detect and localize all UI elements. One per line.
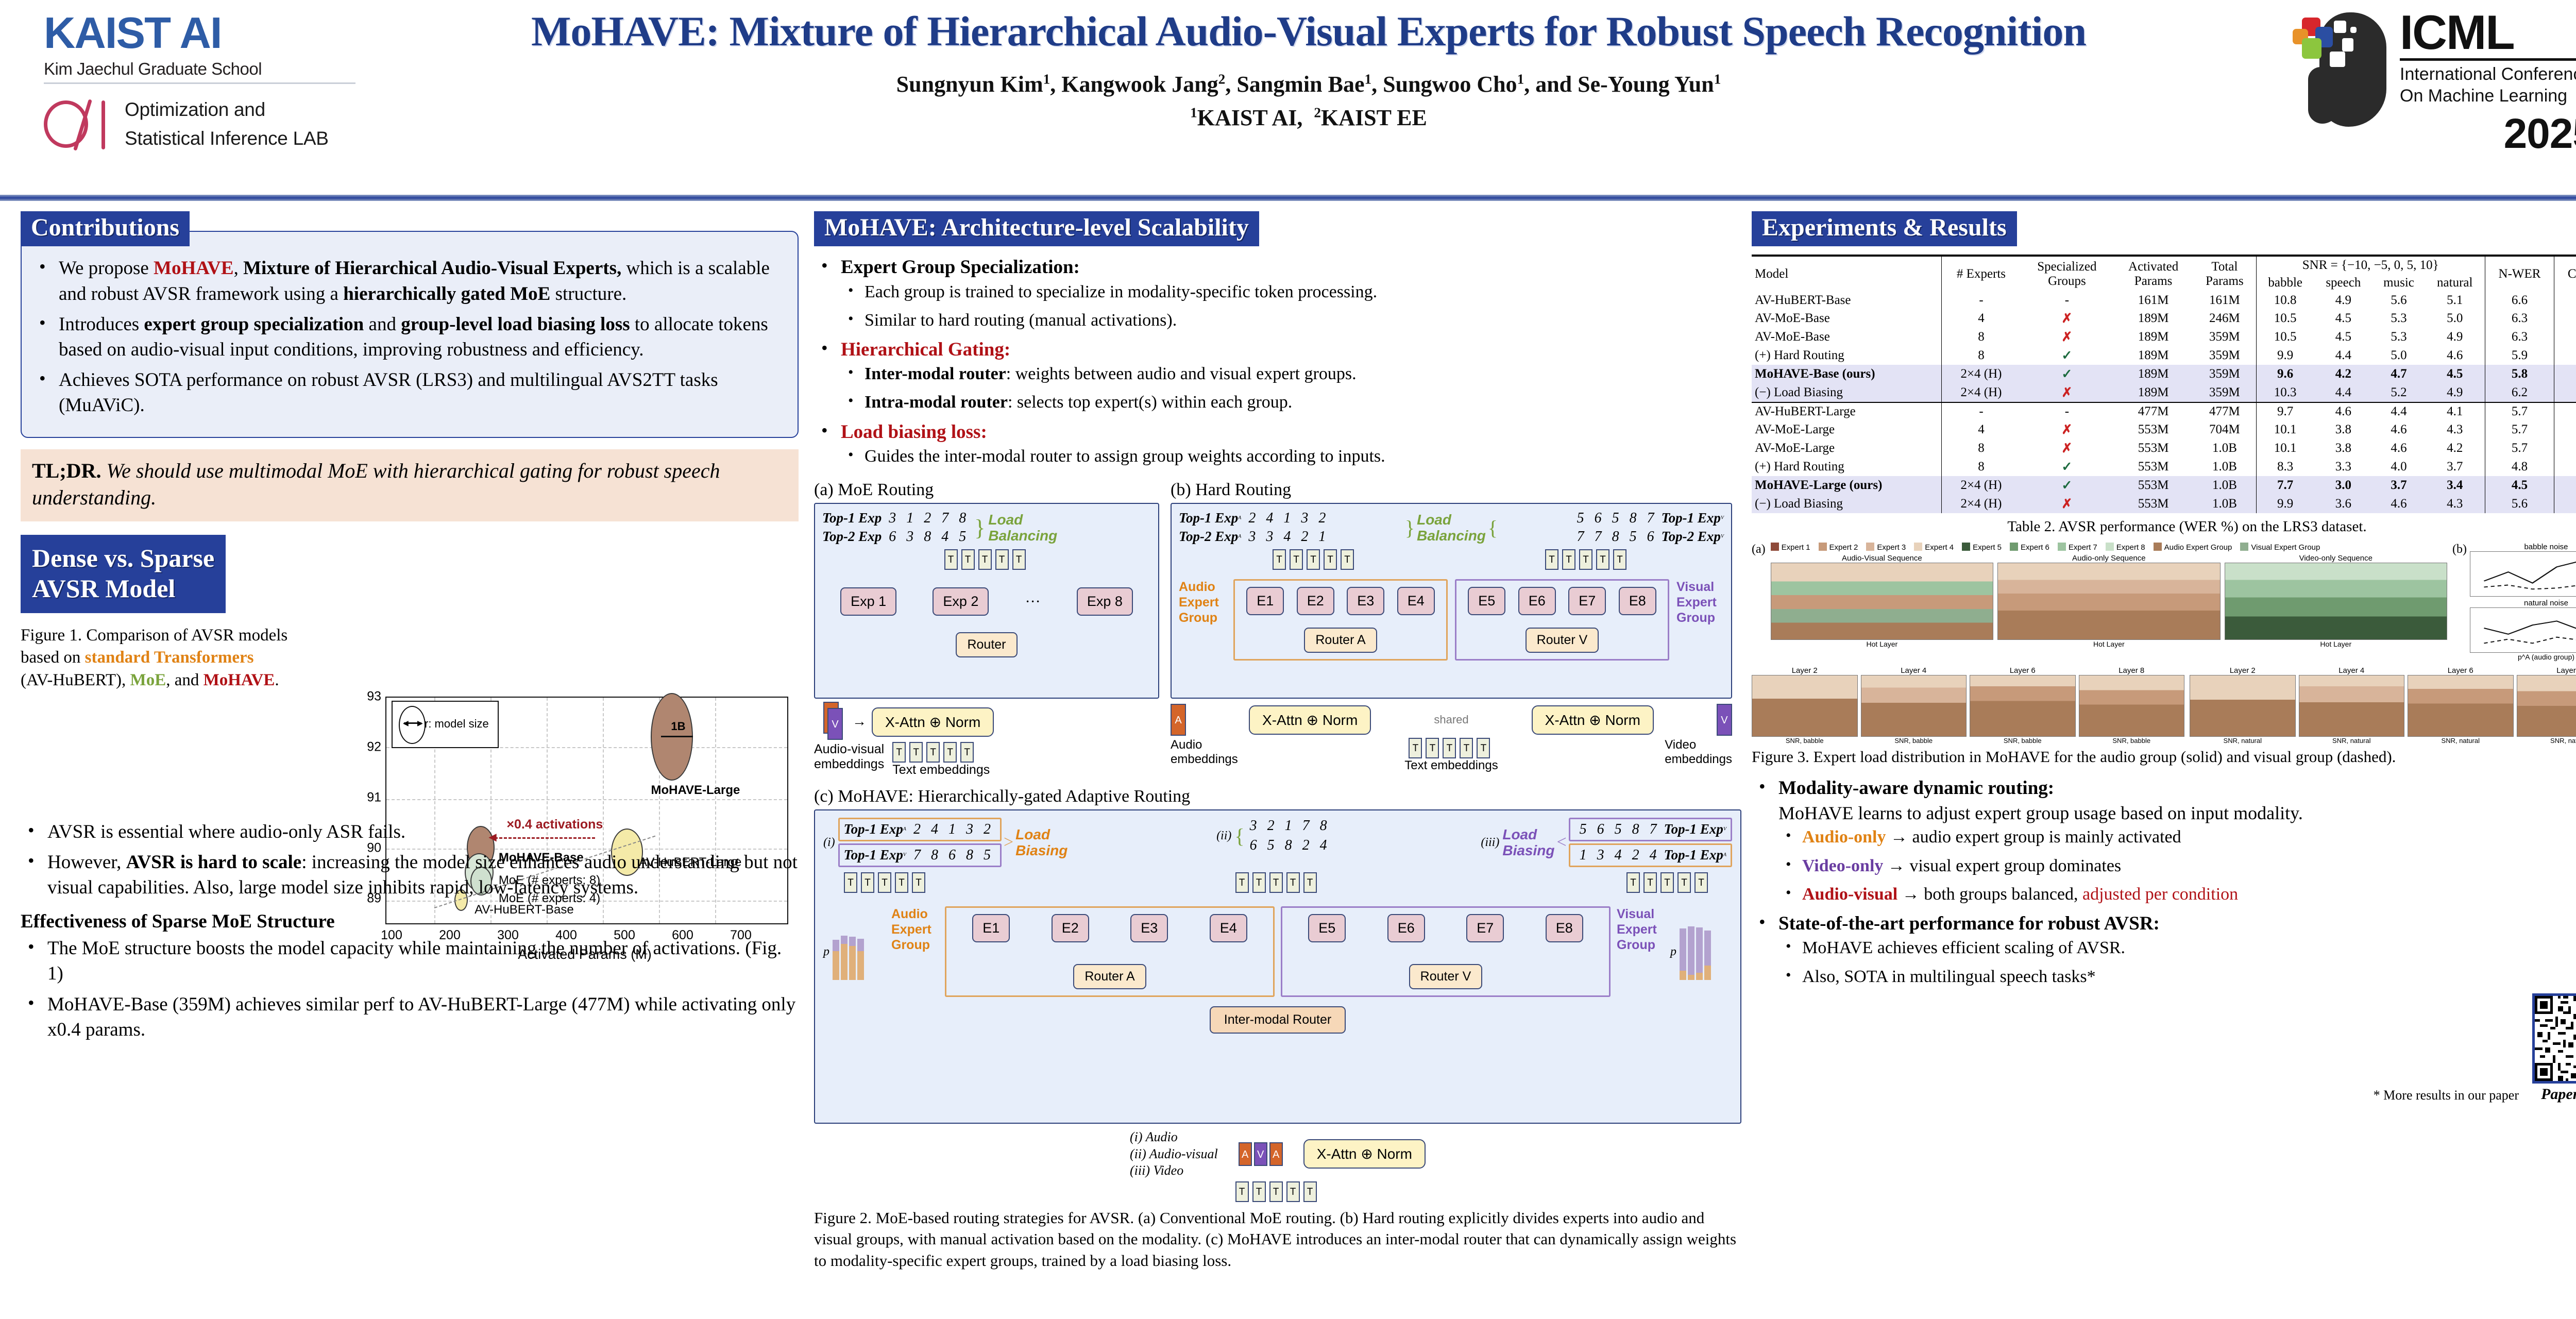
cell-total: 359M [2193,328,2256,346]
list-item: Also, SOTA in multilingual speech tasks* [1778,965,2576,988]
fig3-layer-title-b0: Layer 2 [1752,666,1858,675]
fig3-top-title-2: Video-only Sequence [2225,554,2447,563]
cell-natural: 4.6 [2425,346,2485,365]
routing-value: 3 [1245,818,1262,834]
routing-value: 5 [1262,837,1280,854]
cell-music: 4.4 [2372,402,2425,420]
a-router: Router [956,632,1017,657]
cell-cwer: 1.5 [2554,476,2576,495]
routing-value: 2 [1627,847,1645,864]
routing-value: 3 [1296,510,1313,527]
list-item: Audio-only → audio expert group is mainl… [1778,825,2576,849]
exp-bullet-1-subs: MoHAVE achieves efficient scaling of AVS… [1778,936,2576,988]
cell-nwer: 6.3 [2485,309,2554,328]
b-e7: E7 [1568,587,1606,615]
cell-experts: 8 [1942,458,2021,476]
cell-cwer: 2.1 [2554,292,2576,309]
cell-model: AV-HuBERT-Large [1752,402,1942,420]
arch-group-1-subs: Inter-modal router: weights between audi… [841,362,1741,414]
cell-experts: 4 [1942,420,2021,439]
c-p-right: p [1670,945,1676,959]
cell-music: 4.6 [2372,420,2425,439]
fig3-top-chart-1 [1997,563,2220,640]
list-item: MoHAVE achieves efficient scaling of AVS… [1778,936,2576,959]
legend-expert-1: Expert 1 [1782,543,1810,552]
b-video-emb-l2: embeddings [1665,752,1732,767]
architecture-group-list: Expert Group Specialization: Each group … [814,255,1741,468]
fig3-layers-babble: Layer 2 SNR, babble Layer 4 SNR, babble … [1752,666,2184,745]
a-emb-caption-l1: Audio-visual [814,742,884,757]
cell-experts: 2×4 (H) [1942,365,2021,383]
paper-qr-code[interactable] [2532,993,2576,1084]
cell-natural: 4.5 [2425,365,2485,383]
cell-natural: 4.9 [2425,383,2485,402]
table-row: AV-MoE-Large 4 ✗ 553M 704M 10.1 3.8 4.6 … [1752,420,2576,439]
osi-lab-logo: Optimization and Statistical Inference L… [44,95,329,153]
cell-activated: 553M [2113,458,2193,476]
cell-model: (+) Hard Routing [1752,346,1942,365]
annotation-1b: 1B [671,720,685,733]
cell-speech: 4.4 [2314,346,2373,365]
fig3-top-xlabel-0: Hot Layer [1771,640,1993,648]
routing-value: 2 [1262,818,1280,834]
c-visual-group-label: Visual Expert Group [1617,906,1664,997]
fig3-top-xlabel-1: Hot Layer [1997,640,2220,648]
c-legend-iii: (iii) Video [1130,1163,1183,1178]
b-emb-video: V [1717,704,1732,736]
architecture-heading: MoHAVE: Architecture-level Scalability [814,211,1259,246]
routing-value: 7 [1297,818,1315,834]
b-audio-expert-group: E1 E2 E3 E4 Router A [1233,579,1448,661]
icml-logo: ICML International Conference On Machine… [2293,6,2576,176]
b-e1: E1 [1246,587,1284,615]
cell-babble: 9.6 [2256,365,2314,383]
routing-value: 8 [919,529,936,545]
th-spec: SpecializedGroups [2021,256,2114,292]
cell-cwer: 2.0 [2554,346,2576,365]
experiments-bullets: Modality-aware dynamic routing: MoHAVE l… [1752,775,2576,988]
c-xattn-block: X-Attn ⊕ Norm [1303,1139,1426,1169]
b-e3: E3 [1347,587,1384,615]
fig2-panel-c-diagram: (i) Top-1 ExpA 24132 Top-1 ExpV 78685 [814,809,1741,1124]
c-emb-v1: V [1254,1142,1267,1166]
b-top1a-label: Top-1 Exp [1179,510,1238,526]
b-top2v-values: 77856 [1572,534,1659,543]
cell-specialized: ✓ [2021,346,2114,365]
kaist-logo: KAIST AI Kim Jaechul Graduate School [44,11,353,79]
routing-value: 4 [1261,510,1278,527]
column-left: Contributions We propose MoHAVE, Mixture… [21,211,799,1047]
cell-cwer: 1.8 [2554,365,2576,383]
cell-specialized: ✗ [2021,420,2114,439]
a-expert-2: Exp 2 [933,587,989,616]
routing-value: 5 [1572,510,1589,527]
fig3-top-title-1: Audio-only Sequence [1997,554,2220,563]
cell-specialized: ✗ [2021,309,2114,328]
cell-model: (+) Hard Routing [1752,458,1942,476]
c-i-row2-label: Top-1 Exp [844,847,903,863]
cell-nwer: 4.8 [2485,458,2554,476]
table-row: AV-MoE-Large 8 ✗ 553M 1.0B 10.1 3.8 4.6 … [1752,439,2576,458]
fig3-right-title-0: babble noise [2470,543,2576,551]
routing-value: 1 [1574,847,1592,864]
c-emb-a1: A [1239,1142,1252,1166]
c-legend-ii: (ii) Audio-visual [1130,1146,1218,1161]
routing-value: 4 [936,529,954,545]
cell-total: 359M [2193,365,2256,383]
cell-total: 359M [2193,383,2256,402]
cell-activated: 161M [2113,292,2193,309]
cell-specialized: ✓ [2021,476,2114,495]
routing-value: 7 [1645,821,1662,838]
cell-babble: 9.9 [2256,495,2314,513]
routing-value: 7 [908,847,926,864]
c-iii-row1-values: 56587 [1574,827,1662,836]
th-babble: babble [2256,274,2314,292]
figure2-caption: Figure 2. MoE-based routing strategies f… [814,1207,1741,1272]
bubble-label-avhubert-base: AV-HuBERT-Base [474,903,574,917]
cell-nwer: 5.8 [2485,365,2554,383]
legend-expert-8: Expert 8 [2116,543,2145,552]
ytick-93: 93 [357,689,381,704]
kaist-wordmark: KAIST AI [44,11,353,55]
routing-value: 1 [1313,529,1331,545]
cell-activated: 553M [2113,476,2193,495]
cell-cwer: 1.8 [2554,439,2576,458]
title-block: MoHAVE: Mixture of Hierarchical Audio-Vi… [361,9,2257,131]
cell-total: 704M [2193,420,2256,439]
cell-experts: 8 [1942,328,2021,346]
fig3-layer-title-b2: Layer 6 [1970,666,2076,675]
arch-group-0-title: Expert Group Specialization: [841,257,1080,278]
cross-icon: ✗ [2061,423,2072,437]
c-iii-sup1: V [1723,826,1726,832]
sparse-moe-bullets: The MoE structure boosts the model capac… [21,936,799,1042]
list-item: Each group is trained to specialize in m… [841,280,1741,303]
fig3-right-xlabel: p^A (audio group) [2470,653,2576,661]
tldr-box: TL;DR. We should use multimodal MoE with… [21,449,799,521]
b-router-a: Router A [1304,628,1377,653]
cell-nwer: 5.6 [2485,495,2554,513]
routing-value: 2 [1243,510,1261,527]
cell-total: 246M [2193,309,2256,328]
legend-expert-6: Expert 6 [2021,543,2049,552]
cell-babble: 9.7 [2256,402,2314,420]
cell-model: (−) Load Biasing [1752,383,1942,402]
b-top1a-values: 24132 [1243,516,1331,525]
c-i-row1-values: 24132 [908,827,996,836]
b-top2a-label: Top-2 Exp [1179,529,1238,544]
b-top1v-values: 56587 [1572,516,1659,525]
figure3: (a) Expert 1 Expert 2 Expert 3 Expert 4 … [1752,543,2576,766]
c-iii-row2-values: 13424 [1574,853,1662,861]
cell-babble: 10.5 [2256,328,2314,346]
b-visual-group-label: Visual Expert Group [1676,579,1724,661]
cell-specialized: ✗ [2021,439,2114,458]
routing-value: 8 [926,847,943,864]
page-title: MoHAVE: Mixture of Hierarchical Audio-Vi… [361,9,2257,54]
osi-lab-name: Optimization and Statistical Inference L… [125,95,329,153]
c-e3: E3 [1130,914,1168,942]
cross-icon: ✗ [2061,497,2072,511]
cell-cwer: 2.0 [2554,309,2576,328]
c-inter-modal-router: Inter-modal Router [1210,1006,1346,1034]
cross-icon: ✗ [2061,330,2072,344]
c-i-row2-values: 78685 [908,853,996,861]
table-row: AV-HuBERT-Large - - 477M 477M 9.7 4.6 4.… [1752,402,2576,420]
cell-model: AV-MoE-Base [1752,309,1942,328]
cell-specialized: ✗ [2021,328,2114,346]
routing-value: 5 [1574,821,1592,838]
cell-music: 5.3 [2372,309,2425,328]
cell-speech: 3.6 [2314,495,2373,513]
cell-specialized: - [2021,402,2114,420]
routing-value: 6 [1592,821,1609,838]
c-iii-sup2: A [1723,852,1726,858]
routing-value: 1 [901,510,919,527]
arch-group-0: Expert Group Specialization: Each group … [814,255,1741,332]
legend-expert-7: Expert 7 [2069,543,2097,552]
cell-activated: 477M [2113,402,2193,420]
cell-specialized: ✗ [2021,495,2114,513]
results-table: Model # Experts SpecializedGroups Activa… [1752,255,2576,513]
fig3-layer-x-n0: SNR, natural [2190,737,2296,745]
cell-music: 5.2 [2372,383,2425,402]
legend-expert-5: Expert 5 [1973,543,2002,552]
arch-group-1-title: Hierarchical Gating: [841,339,1010,360]
cell-experts: - [1942,402,2021,420]
c-load-iii-l1: Load [1502,826,1537,842]
th-experts: # Experts [1942,256,2021,292]
figure1-size-legend: ◀ ▶ r: model size [392,701,499,748]
routing-value: 8 [954,510,971,527]
arch-group-1: Hierarchical Gating: Inter-modal router:… [814,337,1741,414]
cell-model: AV-MoE-Large [1752,420,1942,439]
c-e8: E8 [1546,914,1583,942]
osi-mark-icon [44,98,113,150]
dense-heading-line1: Dense vs. Sparse [32,543,214,573]
cell-model: MoHAVE-Large (ours) [1752,476,1942,495]
table-row: AV-MoE-Base 8 ✗ 189M 359M 10.5 4.5 5.3 4… [1752,328,2576,346]
experiments-heading: Experiments & Results [1752,211,2017,246]
dense-heading-line2: AVSR Model [32,573,214,604]
a-emb-video: V [827,708,843,740]
legend-expert-4: Expert 4 [1925,543,1954,552]
c-load-i-l2: Biasing [1015,842,1067,858]
figure1-legend-text: r: model size [425,717,489,731]
list-item: AVSR is essential where audio-only ASR f… [21,819,799,844]
cell-nwer: 6.6 [2485,292,2554,309]
cell-music: 4.6 [2372,495,2425,513]
cell-babble: 9.9 [2256,346,2314,365]
list-item: Achieves SOTA performance on robust AVSR… [32,367,784,418]
b-top1v-label: Top-1 Exp [1662,510,1721,526]
fig3-layer-title-n0: Layer 2 [2190,666,2296,675]
fig2-panel-a-title: (a) MoE Routing [814,480,1159,500]
cell-activated: 189M [2113,328,2193,346]
routing-value: 1 [1278,510,1296,527]
legend-expert-2: Expert 2 [1829,543,1858,552]
cell-babble: 8.3 [2256,458,2314,476]
b-e6: E6 [1518,587,1556,615]
cell-speech: 4.2 [2314,365,2373,383]
b-audio-emb-l2: embeddings [1171,752,1238,767]
header-divider [44,82,355,84]
kaist-subtitle: Kim Jaechul Graduate School [44,59,353,79]
cell-activated: 189M [2113,383,2193,402]
contributions-list: We propose MoHAVE, Mixture of Hierarchic… [32,256,784,418]
c-tag-i: (i) [823,836,835,850]
a-expert-8: Exp 8 [1077,587,1133,616]
list-item: Similar to hard routing (manual activati… [841,309,1741,332]
list-item: Guides the inter-modal router to assign … [841,445,1741,468]
cell-specialized: ✓ [2021,365,2114,383]
figure1-caption: Figure 1. Comparison of AVSR models base… [21,624,289,692]
tldr-label: TL;DR. [32,459,101,482]
cell-natural: 4.2 [2425,439,2485,458]
c-emb-a2: A [1269,1142,1283,1166]
cell-activated: 553M [2113,495,2193,513]
cell-music: 4.7 [2372,365,2425,383]
c-router-v: Router V [1409,964,1483,989]
column-right: Experiments & Results Model # Experts Sp… [1752,211,2576,1103]
a-load-l1: Load [988,512,1023,528]
cell-speech: 4.5 [2314,309,2373,328]
cell-nwer: 6.3 [2485,328,2554,346]
b-router-v: Router V [1526,628,1599,653]
cell-nwer: 4.5 [2485,476,2554,495]
tldr-text: We should use multimodal MoE with hierar… [32,459,720,509]
cell-speech: 4.4 [2314,383,2373,402]
arch-group-2-title: Load biasing loss: [841,421,987,443]
cell-natural: 4.3 [2425,495,2485,513]
b-e5: E5 [1468,587,1505,615]
c-audio-group-label: Audio Expert Group [891,906,939,997]
routing-value: 7 [936,510,954,527]
fig3-top-chart-0 [1771,563,1993,640]
legend-visual-group: Visual Expert Group [2251,543,2320,552]
exp-bullet-0-title: Modality-aware dynamic routing: [1778,777,2054,799]
cell-specialized: ✓ [2021,458,2114,476]
qr-code-icon [2535,996,2576,1081]
a-text-emb-caption: Text embeddings [892,763,990,777]
cell-specialized: ✗ [2021,383,2114,402]
cell-music: 3.7 [2372,476,2425,495]
cell-total: 161M [2193,292,2256,309]
fig3-tag-b: (b) [2452,543,2467,556]
c-p-left: p [823,945,829,959]
fig3-layer-title-b1: Layer 4 [1861,666,1967,675]
table-row: (+) Hard Routing 8 ✓ 553M 1.0B 8.3 3.3 4… [1752,458,2576,476]
cell-speech: 4.5 [2314,328,2373,346]
c-legend-i: (i) Audio [1130,1129,1178,1144]
cell-activated: 553M [2113,420,2193,439]
cell-total: 1.0B [2193,495,2256,513]
cell-experts: 8 [1942,439,2021,458]
b-e2: E2 [1297,587,1334,615]
cross-icon: ✗ [2061,312,2072,326]
routing-value: 6 [1245,837,1262,854]
routing-value: 8 [1315,818,1332,834]
fig3-layer-title-n1: Layer 4 [2299,666,2405,675]
fig3-legend: Expert 1 Expert 2 Expert 3 Expert 4 Expe… [1771,543,2447,552]
b-sup-a2: A [1238,534,1241,539]
routing-value: 3 [1592,847,1609,864]
cell-babble: 10.5 [2256,309,2314,328]
header-accent-bar [0,195,2576,201]
list-item: However, AVSR is hard to scale: increasi… [21,850,799,900]
c-e1: E1 [972,914,1010,942]
check-icon: ✓ [2061,367,2072,381]
a-expert-1: Exp 1 [840,587,896,616]
check-icon: ✓ [2061,460,2072,474]
contributions-panel: We propose MoHAVE, Mixture of Hierarchic… [21,231,799,437]
ytick-92: 92 [357,739,381,754]
fig3-right-chart-1 [2470,607,2576,653]
cell-cwer: 1.5 [2554,458,2576,476]
table-row: MoHAVE-Base (ours) 2×4 (H) ✓ 189M 359M 9… [1752,365,2576,383]
a-xattn-block: X-Attn ⊕ Norm [872,707,994,737]
b-e4: E4 [1397,587,1435,615]
list-item: Introduces expert group specialization a… [32,312,784,362]
cell-speech: 4.9 [2314,292,2373,309]
cell-music: 4.0 [2372,458,2425,476]
th-speech: speech [2314,274,2373,292]
results-table-head: Model # Experts SpecializedGroups Activa… [1752,256,2576,292]
author-list: Sungnyun Kim1, Kangwook Jang2, Sangmin B… [361,71,2257,97]
b-e8: E8 [1619,587,1656,615]
column-middle: MoHAVE: Architecture-level Scalability E… [814,211,1741,1271]
c-e4: E4 [1210,914,1247,942]
b-xattn-left: X-Attn ⊕ Norm [1249,705,1371,735]
table-row: AV-HuBERT-Base - - 161M 161M 10.8 4.9 5.… [1752,292,2576,309]
table-row: AV-MoE-Base 4 ✗ 189M 246M 10.5 4.5 5.3 5… [1752,309,2576,328]
routing-value: 3 [1243,529,1261,545]
cell-natural: 4.9 [2425,328,2485,346]
icml-subtitle-2: On Machine Learning [2400,86,2576,107]
routing-value: 5 [1624,529,1642,545]
cell-specialized: - [2021,292,2114,309]
routing-value: 6 [1642,529,1659,545]
exp-bullet-1: State-of-the-art performance for robust … [1752,911,2576,988]
b-load-l2: Balancing [1417,528,1486,544]
c-right-minibars [1680,923,1711,980]
b-sup-v1: V [1721,515,1724,521]
poster-header: KAIST AI Kim Jaechul Graduate School Opt… [0,0,2576,201]
list-item: MoHAVE-Base (359M) achieves similar perf… [21,992,799,1042]
routing-value: 2 [1297,837,1315,854]
cell-nwer: 5.9 [2485,346,2554,365]
routing-value: 2 [1313,510,1331,527]
routing-value: 3 [884,510,901,527]
cell-babble: 10.1 [2256,420,2314,439]
th-snr-group: SNR = {−10, −5, 0, 5, 10} [2256,256,2485,274]
routing-value: 1 [943,821,961,838]
cell-natural: 5.1 [2425,292,2485,309]
list-item: Video-only → visual expert group dominat… [1778,854,2576,877]
th-total: TotalParams [2193,256,2256,292]
c-e6: E6 [1387,914,1425,942]
routing-value: 5 [1609,821,1627,838]
exp-bullet-0-text: MoHAVE learns to adjust expert group usa… [1778,801,2576,826]
b-visual-expert-group: E5 E6 E7 E8 Router V [1455,579,1669,661]
cell-total: 477M [2193,402,2256,420]
contributions-heading: Contributions [21,211,190,246]
th-act: ActivatedParams [2113,256,2193,292]
cell-experts: - [1942,292,2021,309]
cell-total: 1.0B [2193,458,2256,476]
cell-babble: 7.7 [2256,476,2314,495]
